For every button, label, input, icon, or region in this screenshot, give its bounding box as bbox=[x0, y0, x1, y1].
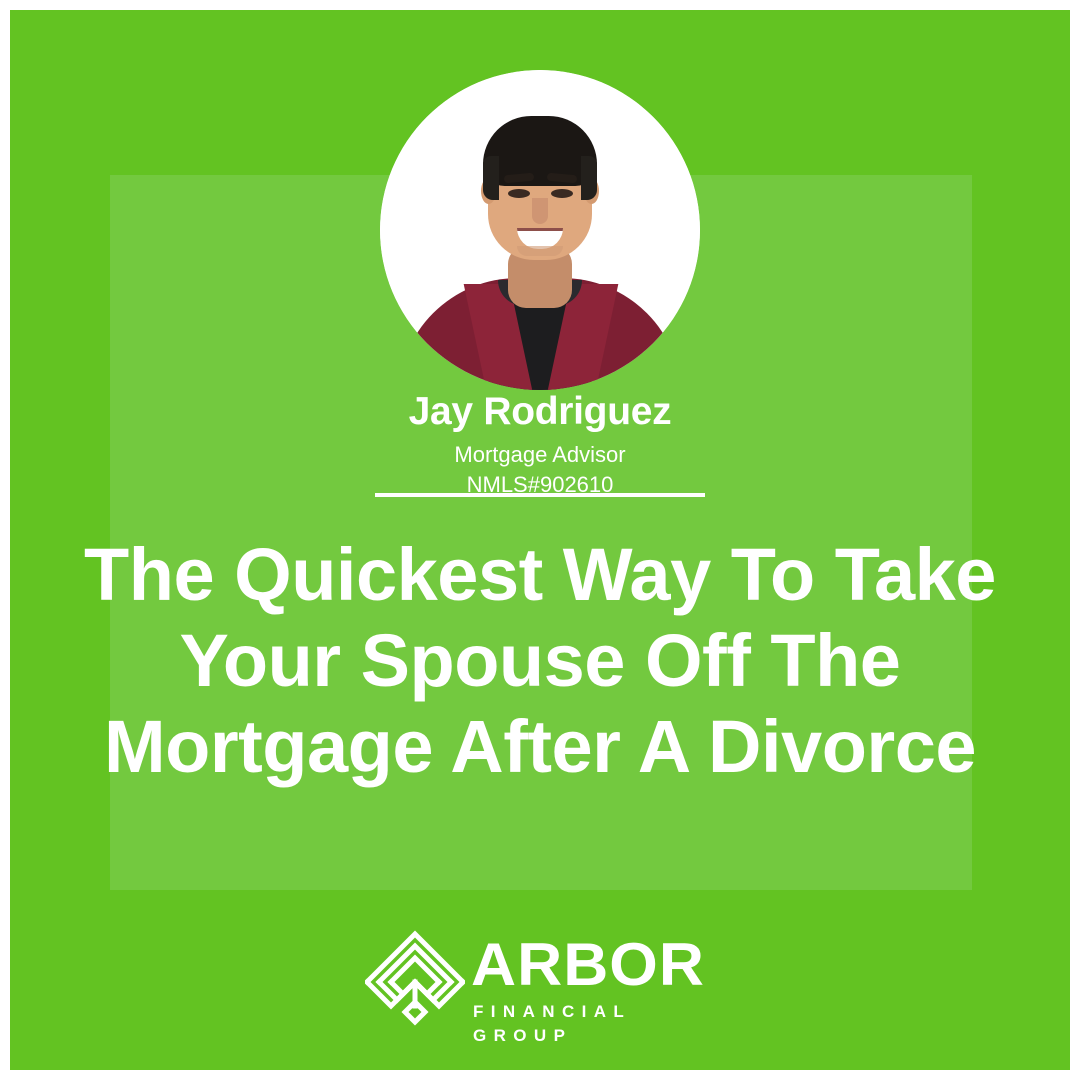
brand-tagline: FINANCIAL GROUP bbox=[473, 1000, 733, 1048]
advisor-name: Jay Rodriguez bbox=[10, 392, 1070, 431]
photo-chin-shadow-shape bbox=[517, 246, 563, 256]
headline-line-3: Mortgage After A Divorce bbox=[70, 704, 1010, 790]
page-title: The Quickest Way To Take Your Spouse Off… bbox=[70, 532, 1010, 790]
green-background-card: Jay Rodriguez Mortgage Advisor NMLS#9026… bbox=[10, 10, 1070, 1070]
social-post-canvas: Jay Rodriguez Mortgage Advisor NMLS#9026… bbox=[0, 0, 1080, 1080]
photo-hair-shape bbox=[483, 116, 597, 186]
photo-left-eye-shape bbox=[508, 189, 530, 198]
headline-line-1: The Quickest Way To Take bbox=[70, 532, 1010, 618]
headline-line-2: Your Spouse Off The bbox=[70, 618, 1010, 704]
photo-right-sideburn-shape bbox=[581, 156, 597, 200]
avatar bbox=[380, 70, 700, 390]
brand-wordmark-group: ARBOR FINANCIAL GROUP bbox=[471, 936, 733, 1048]
brand-name: ARBOR bbox=[471, 936, 743, 994]
advisor-job-title: Mortgage Advisor bbox=[10, 444, 1070, 466]
arbor-tree-diamond-icon bbox=[365, 930, 465, 1030]
photo-left-sideburn-shape bbox=[483, 156, 499, 200]
brand-logo: ARBOR FINANCIAL GROUP bbox=[365, 928, 735, 1034]
advisor-headshot-photo bbox=[380, 70, 700, 390]
photo-nose-shape bbox=[532, 198, 548, 224]
photo-right-eye-shape bbox=[551, 189, 573, 198]
divider-rule bbox=[375, 493, 705, 497]
